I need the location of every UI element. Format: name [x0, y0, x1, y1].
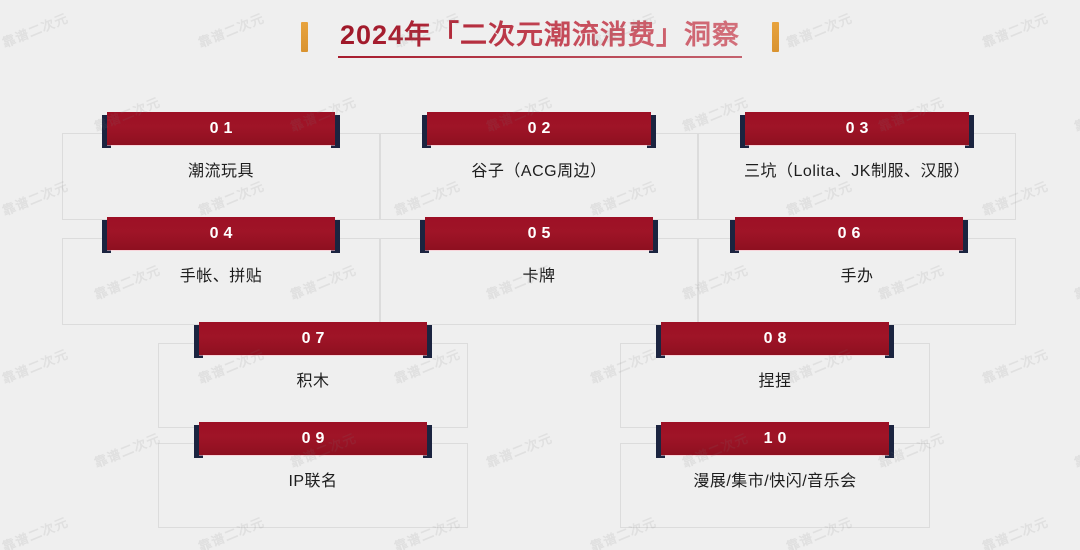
slide-canvas: 2024年「二次元潮流消费」洞察 01 潮流玩具 02 谷子（ACG周边）: [0, 0, 1080, 550]
card-label: 捏捏: [620, 370, 930, 394]
card-header: 07: [194, 325, 432, 358]
title-tick-left-icon: [301, 22, 308, 52]
card-header: 02: [422, 115, 656, 148]
page-title: 2024年「二次元潮流消费」洞察: [334, 17, 746, 58]
card-label: IP联名: [158, 470, 468, 494]
card-label: 谷子（ACG周边）: [380, 160, 698, 184]
card-number: 05: [420, 217, 658, 250]
card-number: 08: [656, 322, 894, 355]
category-card-02[interactable]: 02 谷子（ACG周边）: [380, 115, 698, 220]
card-label: 积木: [158, 370, 468, 394]
card-label: 手办: [698, 265, 1016, 289]
card-number: 03: [740, 112, 974, 145]
card-header: 04: [102, 220, 340, 253]
card-header: 03: [740, 115, 974, 148]
category-card-06[interactable]: 06 手办: [698, 220, 1016, 325]
card-label: 漫展/集市/快闪/音乐会: [620, 470, 930, 494]
card-number: 07: [194, 322, 432, 355]
slide-title-bar: 2024年「二次元潮流消费」洞察: [0, 14, 1080, 60]
title-underline: [338, 56, 742, 58]
category-card-04[interactable]: 04 手帐、拼贴: [62, 220, 380, 325]
category-card-09[interactable]: 09 IP联名: [158, 425, 468, 528]
card-number: 02: [422, 112, 656, 145]
category-card-01[interactable]: 01 潮流玩具: [62, 115, 380, 220]
card-header: 06: [730, 220, 968, 253]
card-header: 05: [420, 220, 658, 253]
card-header: 08: [656, 325, 894, 358]
category-card-05[interactable]: 05 卡牌: [380, 220, 698, 325]
card-label: 潮流玩具: [62, 160, 380, 184]
card-label: 卡牌: [380, 265, 698, 289]
card-number: 01: [102, 112, 340, 145]
category-card-03[interactable]: 03 三坑（Lolita、JK制服、汉服）: [698, 115, 1016, 220]
card-label: 手帐、拼贴: [62, 265, 380, 289]
card-label: 三坑（Lolita、JK制服、汉服）: [698, 160, 1016, 184]
card-header: 09: [194, 425, 432, 458]
card-header: 01: [102, 115, 340, 148]
card-number: 10: [656, 422, 894, 455]
category-card-10[interactable]: 10 漫展/集市/快闪/音乐会: [620, 425, 930, 528]
card-number: 06: [730, 217, 968, 250]
card-number: 04: [102, 217, 340, 250]
category-card-08[interactable]: 08 捏捏: [620, 325, 930, 428]
card-header: 10: [656, 425, 894, 458]
category-card-07[interactable]: 07 积木: [158, 325, 468, 428]
page-title-text: 2024年「二次元潮流消费」洞察: [340, 20, 740, 50]
title-tick-right-icon: [772, 22, 779, 52]
card-number: 09: [194, 422, 432, 455]
